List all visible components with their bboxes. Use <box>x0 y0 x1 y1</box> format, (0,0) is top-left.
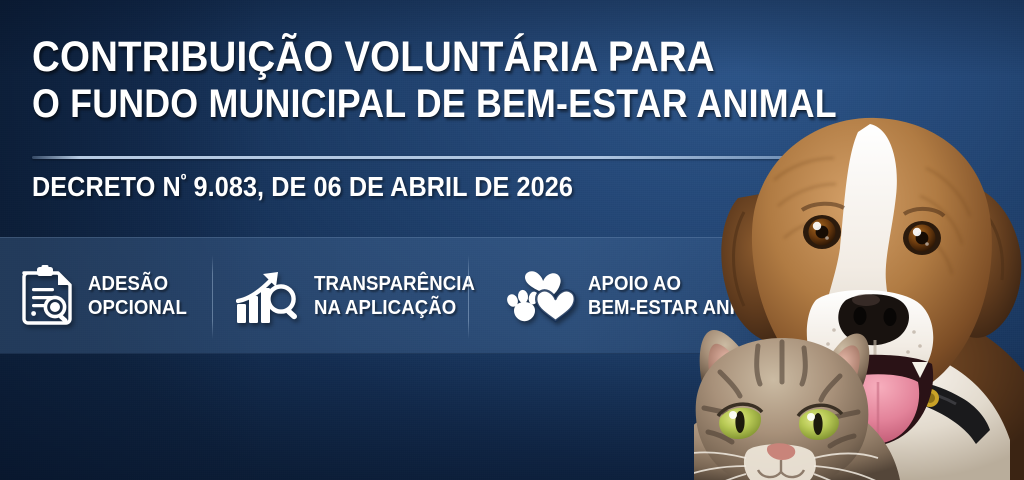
decree-subheadline: DECRETO Nº 9.083, DE 06 DE ABRIL DE 2026 <box>32 170 573 204</box>
feature-label-line-1: ADESÃO <box>88 272 187 296</box>
feature-item-adesao-opcional: ADESÃO OPCIONAL <box>0 238 212 353</box>
decree-prefix: DECRETO N <box>32 171 181 202</box>
cat-eye-left <box>718 404 762 439</box>
paw-hearts-icon <box>506 269 578 323</box>
banner: CONTRIBUIÇÃO VOLUNTÁRIA PARA O FUNDO MUN… <box>0 0 1024 480</box>
dog-mouth <box>819 355 933 447</box>
headline-line-2: O FUNDO MUNICIPAL DE BEM-ESTAR ANIMAL <box>32 81 739 127</box>
feature-label-line-1: TRANSPARÊNCIA <box>314 272 475 296</box>
feature-label-line-2: OPCIONAL <box>88 296 187 320</box>
feature-label-adesao: ADESÃO OPCIONAL <box>88 272 187 320</box>
feature-item-bem-estar: APOIO AO BEM-ESTAR ANIMAL <box>468 238 768 353</box>
headline-divider <box>32 156 823 159</box>
clipboard-magnifier-icon <box>18 265 76 327</box>
growth-chart-magnifier-icon <box>236 268 302 324</box>
dog-eye-left <box>803 215 841 249</box>
dog-eye-right <box>903 221 941 255</box>
headline: CONTRIBUIÇÃO VOLUNTÁRIA PARA O FUNDO MUN… <box>32 34 822 127</box>
feature-band: ADESÃO OPCIONAL <box>0 237 800 354</box>
headline-line-1: CONTRIBUIÇÃO VOLUNTÁRIA PARA <box>32 34 739 81</box>
decree-rest: 9.083, DE 06 DE ABRIL DE 2026 <box>186 171 572 202</box>
feature-label-line-2: NA APLICAÇÃO <box>314 296 475 320</box>
feature-label-transparencia: TRANSPARÊNCIA NA APLICAÇÃO <box>314 272 475 320</box>
feature-label-bem-estar: APOIO AO BEM-ESTAR ANIMAL <box>588 272 775 320</box>
feature-label-line-2: BEM-ESTAR ANIMAL <box>588 296 775 320</box>
feature-label-line-1: APOIO AO <box>588 272 775 296</box>
cat-eye-right <box>798 405 842 440</box>
feature-item-transparencia: TRANSPARÊNCIA NA APLICAÇÃO <box>212 238 468 353</box>
dog-nose <box>838 294 909 345</box>
